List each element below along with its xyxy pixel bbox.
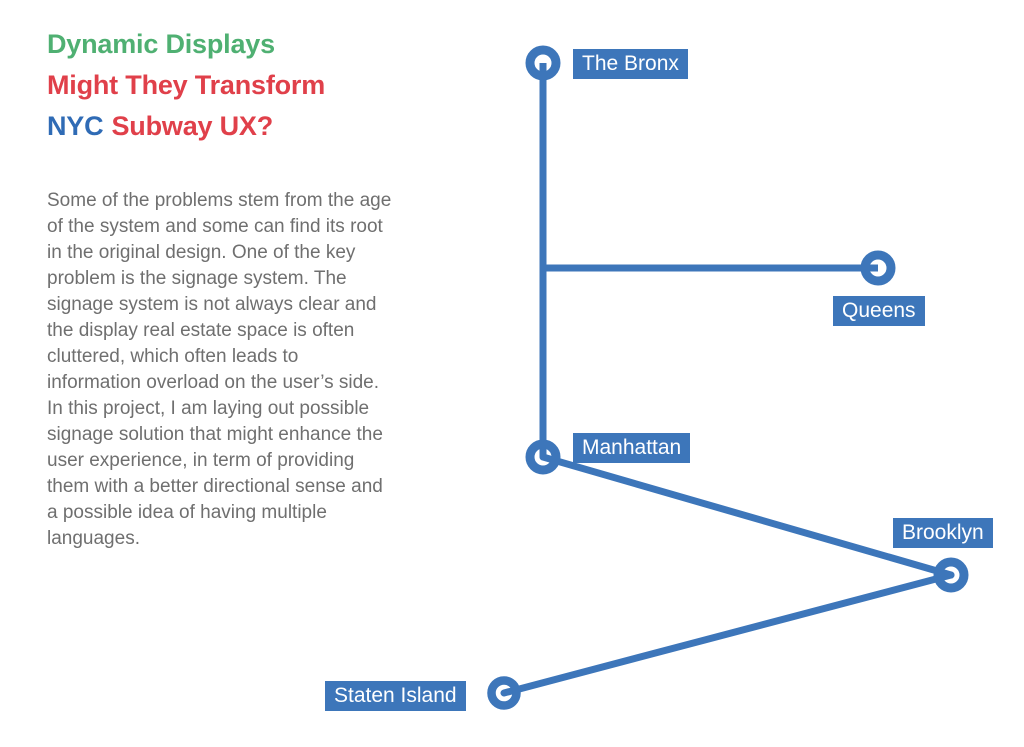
station-label-staten-island[interactable]: Staten Island [325,681,466,711]
station-label-the-bronx[interactable]: The Bronx [573,49,688,79]
subway-map-svg [0,0,1024,747]
segment-brooklyn-to-staten-island [504,575,951,693]
map-station-nodes [492,50,965,706]
station-label-queens[interactable]: Queens [833,296,925,326]
map-lines [504,63,951,693]
station-label-manhattan[interactable]: Manhattan [573,433,690,463]
segment-manhattan-to-brooklyn [543,457,951,575]
station-label-brooklyn[interactable]: Brooklyn [893,518,993,548]
subway-map-diagram: The Bronx Queens Manhattan Brooklyn Stat… [0,0,1024,747]
